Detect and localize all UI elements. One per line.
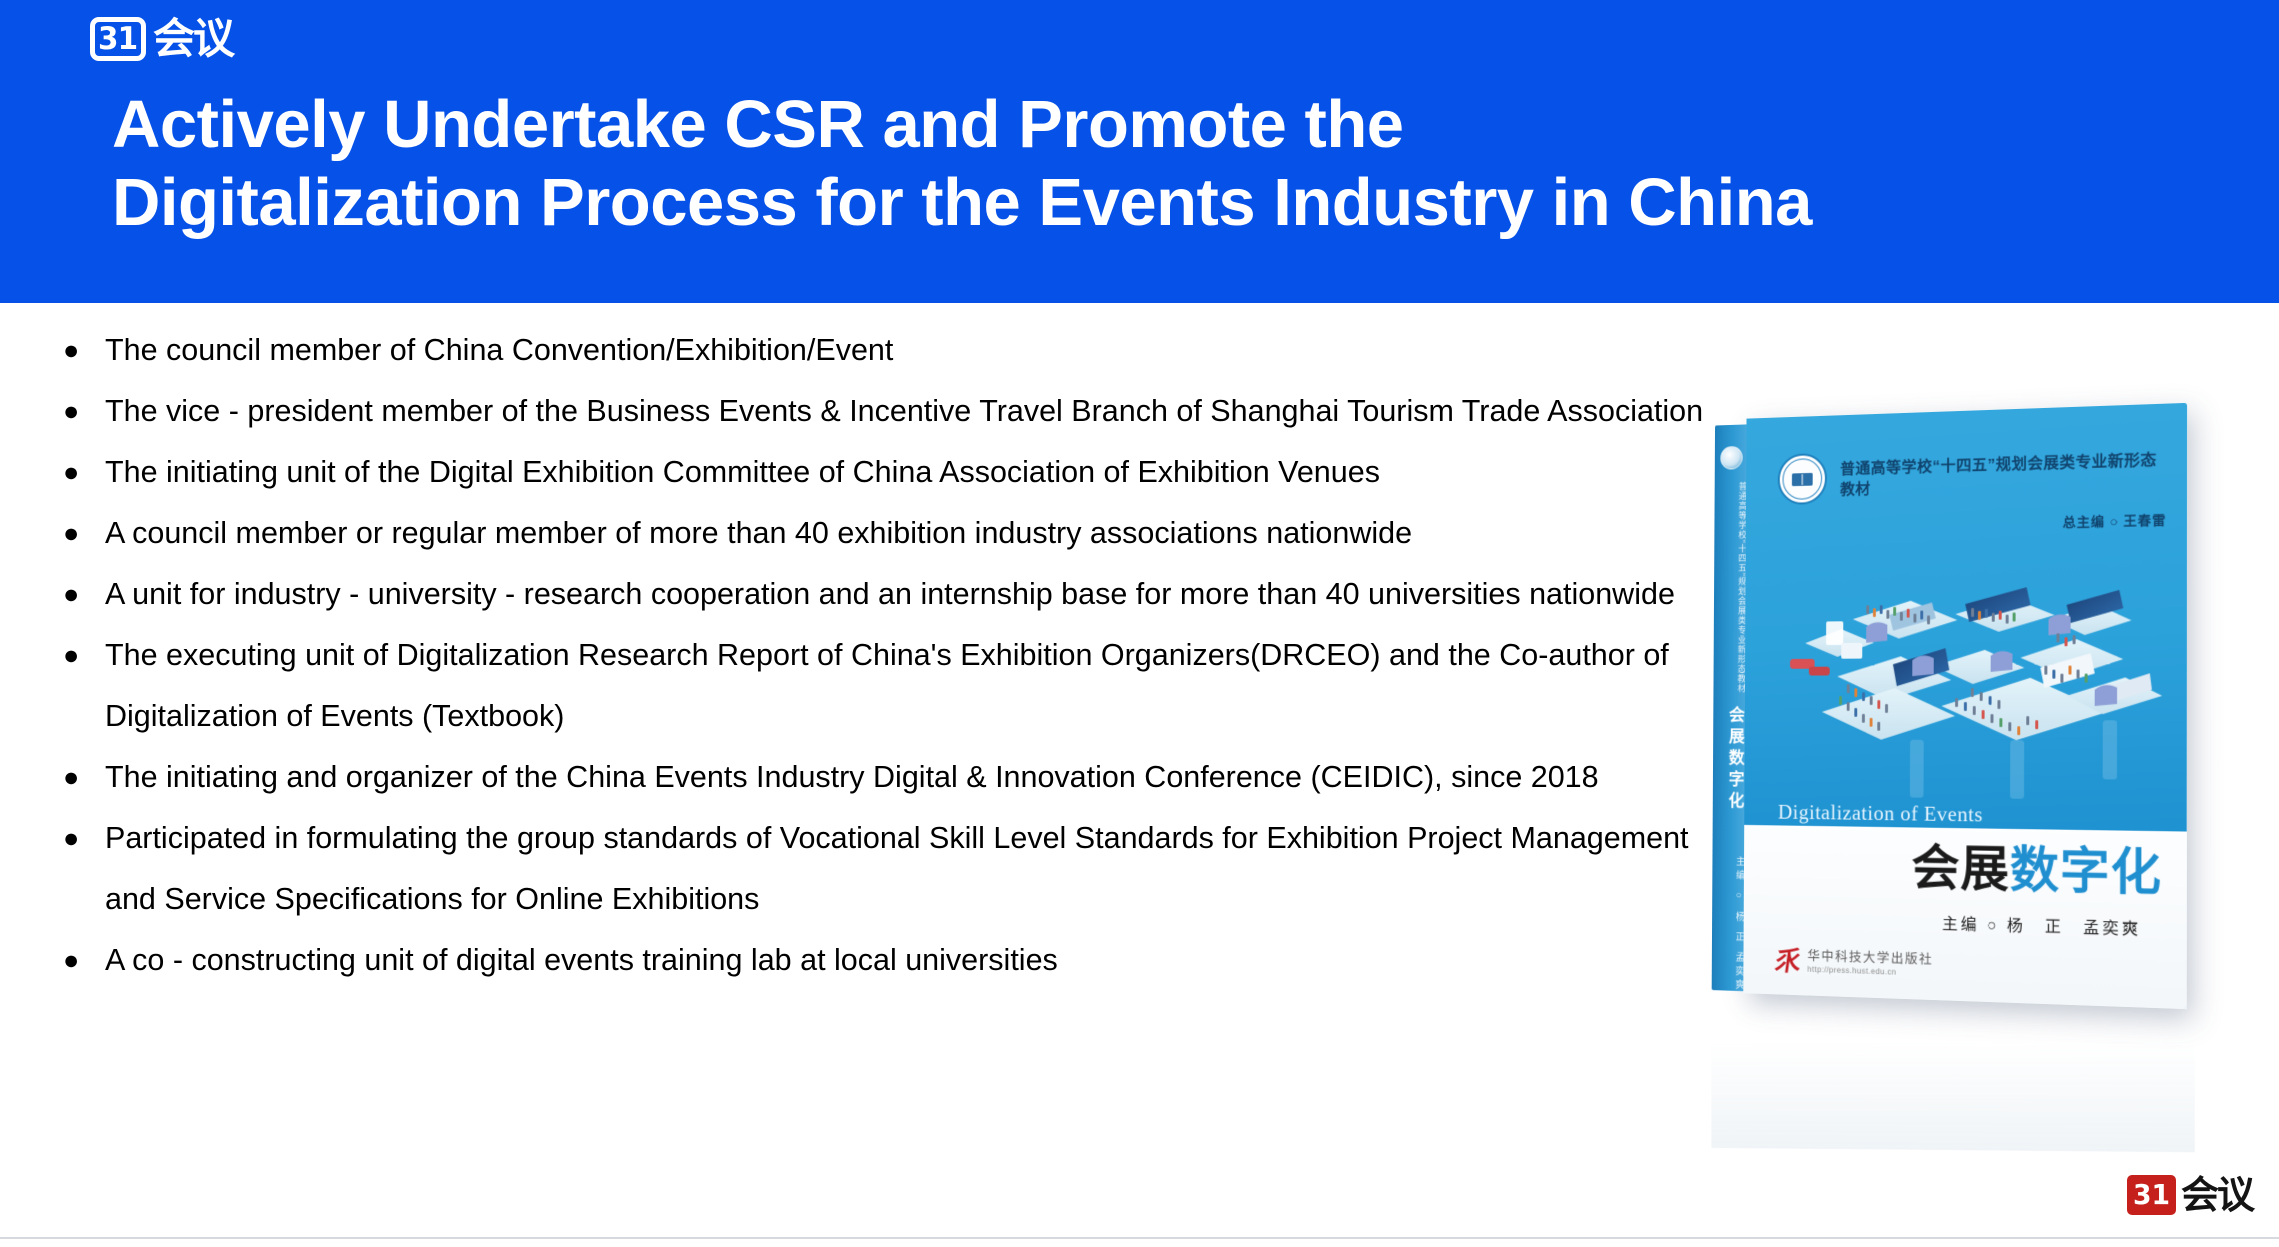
university-emblem-icon [1778, 453, 1827, 505]
book-cn-title-part2: 数字化 [2010, 841, 2162, 902]
list-item: ● The initiating unit of the Digital Exh… [55, 442, 1715, 503]
book-cn-title-part1: 会展 [1911, 839, 2010, 898]
isometric-event-illustration [1767, 577, 2173, 813]
book-spine-series: 普通高等学校“十四五”规划会展类专业新形态教材 [1713, 481, 1748, 695]
list-item: ● A co - constructing unit of digital ev… [55, 930, 1715, 991]
bullet-icon: ● [55, 503, 105, 564]
bullet-icon: ● [55, 747, 105, 808]
emblem-ring [1782, 458, 1822, 500]
book-front-cover: 普通高等学校“十四五”规划会展类专业新形态教材 总主编 ○ 王春雷 [1743, 403, 2187, 1009]
footer-logo: 31 会议 [2127, 1171, 2253, 1219]
page-title-line-1: Actively Undertake CSR and Promote the [112, 86, 2222, 164]
list-item: ● Participated in formulating the group … [55, 808, 1715, 930]
list-item-label: The initiating unit of the Digital Exhib… [105, 442, 1715, 503]
list-item-label: The vice - president member of the Busin… [105, 381, 1715, 442]
book-cover-top-panel: 普通高等学校“十四五”规划会展类专业新形态教材 总主编 ○ 王春雷 [1744, 403, 2187, 832]
open-book-icon [1792, 472, 1813, 485]
book-spine-title: 会展数字化 [1713, 686, 1747, 832]
list-item: ● A council member or regular member of … [55, 503, 1715, 564]
list-item: ● The executing unit of Digitalization R… [55, 625, 1715, 747]
bottom-divider [0, 1237, 2279, 1239]
slide-header: 31 会议 Actively Undertake CSR and Promote… [0, 0, 2279, 303]
list-item-label: Participated in formulating the group st… [105, 808, 1715, 930]
book-reflection [1711, 998, 2194, 1153]
book-cover-image: 普通高等学校“十四五”规划会展类专业新形态教材 会展数字化 主编 ○ 杨 正 孟… [1660, 400, 2220, 1160]
slide: 31 会议 Actively Undertake CSR and Promote… [0, 0, 2279, 1247]
bullet-icon: ● [55, 930, 105, 991]
list-item-label: The council member of China Convention/E… [105, 320, 1715, 381]
list-item: ● A unit for industry - university - res… [55, 564, 1715, 625]
bullet-icon: ● [55, 320, 105, 381]
book-publisher: 乑 华中科技大学出版社 http://press.hust.edu.cn [1775, 948, 1933, 980]
brand-logo-cn-text: 会议 [153, 18, 233, 60]
bullet-icon: ● [55, 808, 105, 869]
page-title: Actively Undertake CSR and Promote the D… [112, 86, 2222, 243]
list-item-label: The executing unit of Digitalization Res… [105, 625, 1715, 747]
footer-logo-mark-text: 31 [2133, 1181, 2170, 1209]
publisher-text-block: 华中科技大学出版社 http://press.hust.edu.cn [1807, 950, 1933, 978]
list-item: ● The council member of China Convention… [55, 320, 1715, 381]
book-chief-editor: 总主编 ○ 王春雷 [1840, 510, 2167, 536]
bullet-icon: ● [55, 625, 105, 686]
brand-logo-mark-text: 31 [98, 24, 137, 55]
book-spine-authors: 主编 ○ 杨 正 孟奕爽 [1712, 856, 1746, 974]
brand-logo: 31 会议 [90, 14, 233, 64]
credentials-list: ● The council member of China Convention… [55, 320, 1715, 991]
list-item-label: A council member or regular member of mo… [105, 503, 1715, 564]
list-item: ● The vice - president member of the Bus… [55, 381, 1715, 442]
brand-logo-mark-icon: 31 [90, 17, 146, 61]
publisher-logo-icon: 乑 [1773, 948, 1802, 975]
footer-logo-mark-icon: 31 [2127, 1175, 2176, 1215]
bullet-icon: ● [55, 442, 105, 503]
bullet-icon: ● [55, 564, 105, 625]
list-item-label: A unit for industry - university - resea… [105, 564, 1715, 625]
book-cover-bottom-panel: 会展数字化 主编 ○ 杨 正 孟奕爽 乑 华中科技大学出版社 http://pr… [1743, 825, 2187, 1009]
book-spine-emblem-icon [1720, 446, 1742, 470]
book-authors: 主编 ○ 杨 正 孟奕爽 [1942, 910, 2141, 940]
list-item-label: The initiating and organizer of the Chin… [105, 747, 1715, 808]
book-english-title: Digitalization of Events [1778, 800, 1983, 828]
list-item-label: A co - constructing unit of digital even… [105, 930, 1715, 991]
book-3d: 普通高等学校“十四五”规划会展类专业新形态教材 会展数字化 主编 ○ 杨 正 孟… [1743, 403, 2187, 1009]
book-series-headline: 普通高等学校“十四五”规划会展类专业新形态教材 [1840, 450, 2167, 501]
footer-logo-cn-text: 会议 [2181, 1176, 2253, 1214]
page-title-line-2: Digitalization Process for the Events In… [112, 164, 2222, 242]
bullet-icon: ● [55, 381, 105, 442]
list-item: ● The initiating and organizer of the Ch… [55, 747, 1715, 808]
book-cn-title: 会展数字化 [1911, 843, 2162, 898]
